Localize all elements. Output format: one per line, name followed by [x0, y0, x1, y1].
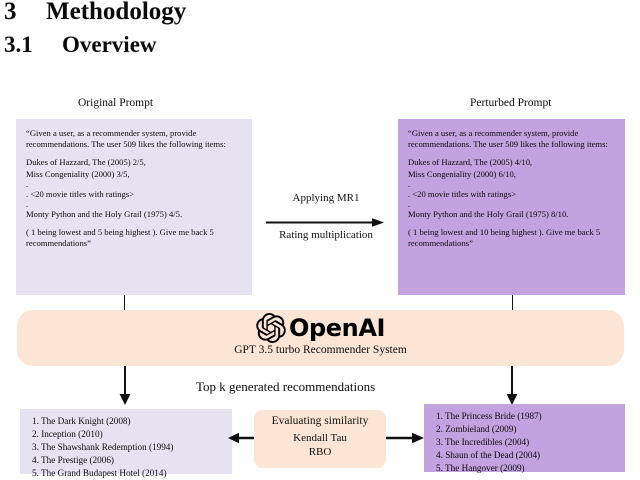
arrow-down-right-icon [505, 366, 519, 405]
perturbed-prompt-outro: ( 1 being lowest and 10 being highest ).… [408, 227, 616, 249]
transform-sublabel: Rating multiplication [256, 229, 396, 241]
list-item: 5. The Grand Budapest Hotel (2014) [32, 467, 224, 480]
subsection-number: 3.1 [4, 32, 62, 58]
spacer [408, 150, 616, 157]
original-prompt-intro: “Given a user, as a recommender system, … [26, 128, 243, 150]
list-item: 3. The Incredibles (2004) [436, 436, 617, 449]
model-subtitle: GPT 3.5 turbo Recommender System [17, 344, 624, 356]
perturbed-prompt-item-2: Miss Congeniality (2000) 6/10, [408, 169, 616, 180]
model-banner: OpenAI GPT 3.5 turbo Recommender System [17, 310, 624, 366]
arrow-right-eval-icon [386, 432, 424, 444]
list-item: 5. The Hangover (2009) [436, 462, 617, 475]
arrow-right-icon [266, 218, 384, 227]
list-item: 1. The Princess Bride (1987) [436, 410, 617, 423]
evaluation-metric-2: RBO [254, 446, 386, 459]
section-title: Methodology [46, 0, 186, 25]
original-prompt-caption: Original Prompt [78, 97, 153, 109]
original-prompt-item-last: Monty Python and the Holy Grail (1975) 4… [26, 209, 243, 220]
perturbed-prompt-item-last: Monty Python and the Holy Grail (1975) 8… [408, 209, 616, 220]
original-prompt-box: “Given a user, as a recommender system, … [16, 119, 252, 295]
original-prompt-dot-1: . [26, 180, 243, 189]
connector-original-to-model [124, 295, 125, 311]
section-heading: 3Methodology [4, 0, 186, 26]
evaluation-title: Evaluating similarity [254, 415, 386, 428]
list-item: 2. Inception (2010) [32, 428, 224, 441]
openai-knot-icon [256, 313, 286, 343]
subsection-heading: 3.1Overview [4, 32, 157, 58]
arrow-down-left-icon [118, 366, 132, 405]
spacer [408, 220, 616, 227]
original-prompt-ellipsis: . <20 movie titles with ratings> [26, 189, 243, 200]
perturbed-recommendations-box: 1. The Princess Bride (1987) 2. Zombiela… [424, 404, 625, 472]
list-item: 4. The Prestige (2006) [32, 454, 224, 467]
perturbed-prompt-ellipsis: . <20 movie titles with ratings> [408, 189, 616, 200]
list-item: 3. The Shawshank Redemption (1994) [32, 441, 224, 454]
transform-label: Applying MR1 [261, 192, 391, 204]
perturbed-prompt-item-1: Dukes of Hazzard, The (2005) 4/10, [408, 157, 616, 168]
arrow-left-icon [228, 432, 256, 444]
topk-label: Top k generated recommendations [196, 379, 375, 395]
perturbed-prompt-dot-1: . [408, 180, 616, 189]
list-item: 2. Zombieland (2009) [436, 423, 617, 436]
original-prompt-item-1: Dukes of Hazzard, The (2005) 2/5, [26, 157, 243, 168]
original-prompt-item-2: Miss Congeniality (2000) 3/5, [26, 169, 243, 180]
original-prompt-dot-2: . [26, 200, 243, 209]
perturbed-prompt-caption: Perturbed Prompt [470, 97, 551, 109]
spacer [26, 150, 243, 157]
evaluation-metric-1: Kendall Tau [254, 431, 386, 445]
subsection-title: Overview [62, 32, 157, 57]
perturbed-prompt-intro: “Given a user, as a recommender system, … [408, 128, 616, 150]
spacer [26, 220, 243, 227]
connector-perturbed-to-model [512, 295, 513, 311]
perturbed-prompt-dot-2: . [408, 200, 616, 209]
perturbed-prompt-box: “Given a user, as a recommender system, … [398, 119, 625, 295]
list-item: 1. The Dark Knight (2008) [32, 415, 224, 428]
original-recommendations-box: 1. The Dark Knight (2008) 2. Inception (… [20, 409, 232, 474]
section-number: 3 [4, 0, 46, 26]
list-item: 4. Shaun of the Dead (2004) [436, 449, 617, 462]
original-prompt-outro: ( 1 being lowest and 5 being highest ). … [26, 227, 243, 249]
openai-wordmark: OpenAI [289, 316, 385, 340]
openai-logo-row: OpenAI [17, 313, 624, 343]
evaluation-box: Evaluating similarity Kendall Tau RBO [254, 410, 386, 468]
